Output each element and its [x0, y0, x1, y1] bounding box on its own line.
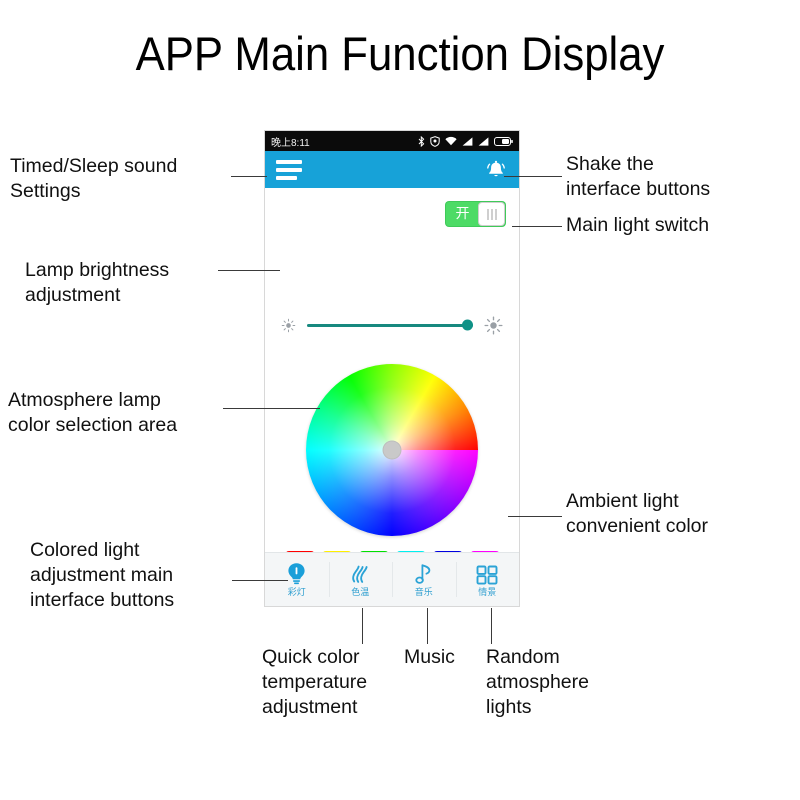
leader-line-main-light-switch [512, 226, 562, 227]
annotation-timed-sleep: Timed/Sleep sound Settings [10, 154, 245, 204]
annotation-random-atmosphere: Random atmosphere lights [486, 645, 636, 720]
app-bar [265, 151, 519, 188]
leader-line-colored-light [232, 580, 288, 581]
signal-icon [462, 137, 473, 146]
annotation-music: Music [404, 645, 484, 670]
brightness-slider-track [307, 324, 473, 327]
annotation-quick-color-temp: Quick color temperature adjustment [262, 645, 412, 720]
status-bar: 晚上8:11 [265, 131, 519, 151]
color-wheel-knob[interactable] [384, 442, 401, 459]
grid-squares-icon [476, 562, 498, 586]
color-wheel[interactable] [306, 364, 478, 536]
annotation-atmosphere-lamp: Atmosphere lamp color selection area [8, 388, 248, 438]
battery-icon [494, 137, 513, 146]
color-wheel-wrap [265, 364, 519, 536]
nav-label-color-temperature: 色温 [351, 589, 369, 598]
leader-line-shake-interface [504, 176, 562, 177]
nav-label-colored-light: 彩灯 [288, 589, 306, 598]
bluetooth-icon [418, 136, 425, 147]
leader-line-quick-color-temp [362, 608, 363, 644]
status-bar-time: 晚上8:11 [271, 134, 310, 149]
leader-line-music [427, 608, 428, 644]
annotation-lamp-brightness: Lamp brightness adjustment [25, 258, 255, 308]
main-light-switch-row: 开 [446, 202, 505, 226]
status-bar-icons [418, 136, 513, 147]
nav-item-color-temperature[interactable]: 色温 [329, 553, 393, 606]
shake-bell-icon[interactable] [484, 158, 508, 182]
nav-item-scene[interactable]: 情景 [456, 553, 520, 606]
leader-line-ambient-light [508, 516, 562, 517]
brightness-slider[interactable] [307, 315, 473, 335]
leader-line-lamp-brightness [218, 270, 280, 271]
page-root: APP Main Function Display 晚上8:11 [0, 0, 800, 800]
leader-line-random-atmosphere [491, 608, 492, 644]
nav-item-music[interactable]: 音乐 [392, 553, 456, 606]
annotation-main-light-switch: Main light switch [566, 213, 796, 238]
nav-label-music: 音乐 [415, 589, 433, 598]
annotation-ambient-light: Ambient light convenient color [566, 489, 800, 539]
leader-line-atmosphere-lamp [223, 408, 320, 409]
shield-icon [430, 136, 440, 147]
hamburger-menu-icon[interactable] [276, 160, 302, 180]
phone-mockup: 晚上8:11 [265, 131, 519, 606]
brightness-slider-knob[interactable] [462, 320, 473, 331]
annotation-colored-light: Colored light adjustment main interface … [30, 538, 255, 613]
main-light-switch-label: 开 [446, 202, 479, 226]
leader-line-timed-sleep [231, 176, 267, 177]
nav-label-scene: 情景 [478, 589, 496, 598]
signal-icon [478, 137, 489, 146]
brightness-high-icon [484, 316, 503, 335]
annotation-shake-interface: Shake the interface buttons [566, 152, 796, 202]
page-title: APP Main Function Display [28, 26, 772, 81]
music-note-icon [414, 562, 434, 586]
flame-icon [349, 562, 371, 586]
brightness-row [265, 312, 519, 338]
main-light-switch-knob[interactable] [479, 203, 504, 225]
brightness-low-icon [281, 318, 296, 333]
app-screen: 开 [265, 188, 519, 606]
main-light-switch[interactable]: 开 [446, 202, 505, 226]
lightbulb-icon [286, 562, 307, 586]
bottom-nav-bar: 彩灯 色温 [265, 552, 519, 606]
wifi-icon [445, 136, 457, 146]
